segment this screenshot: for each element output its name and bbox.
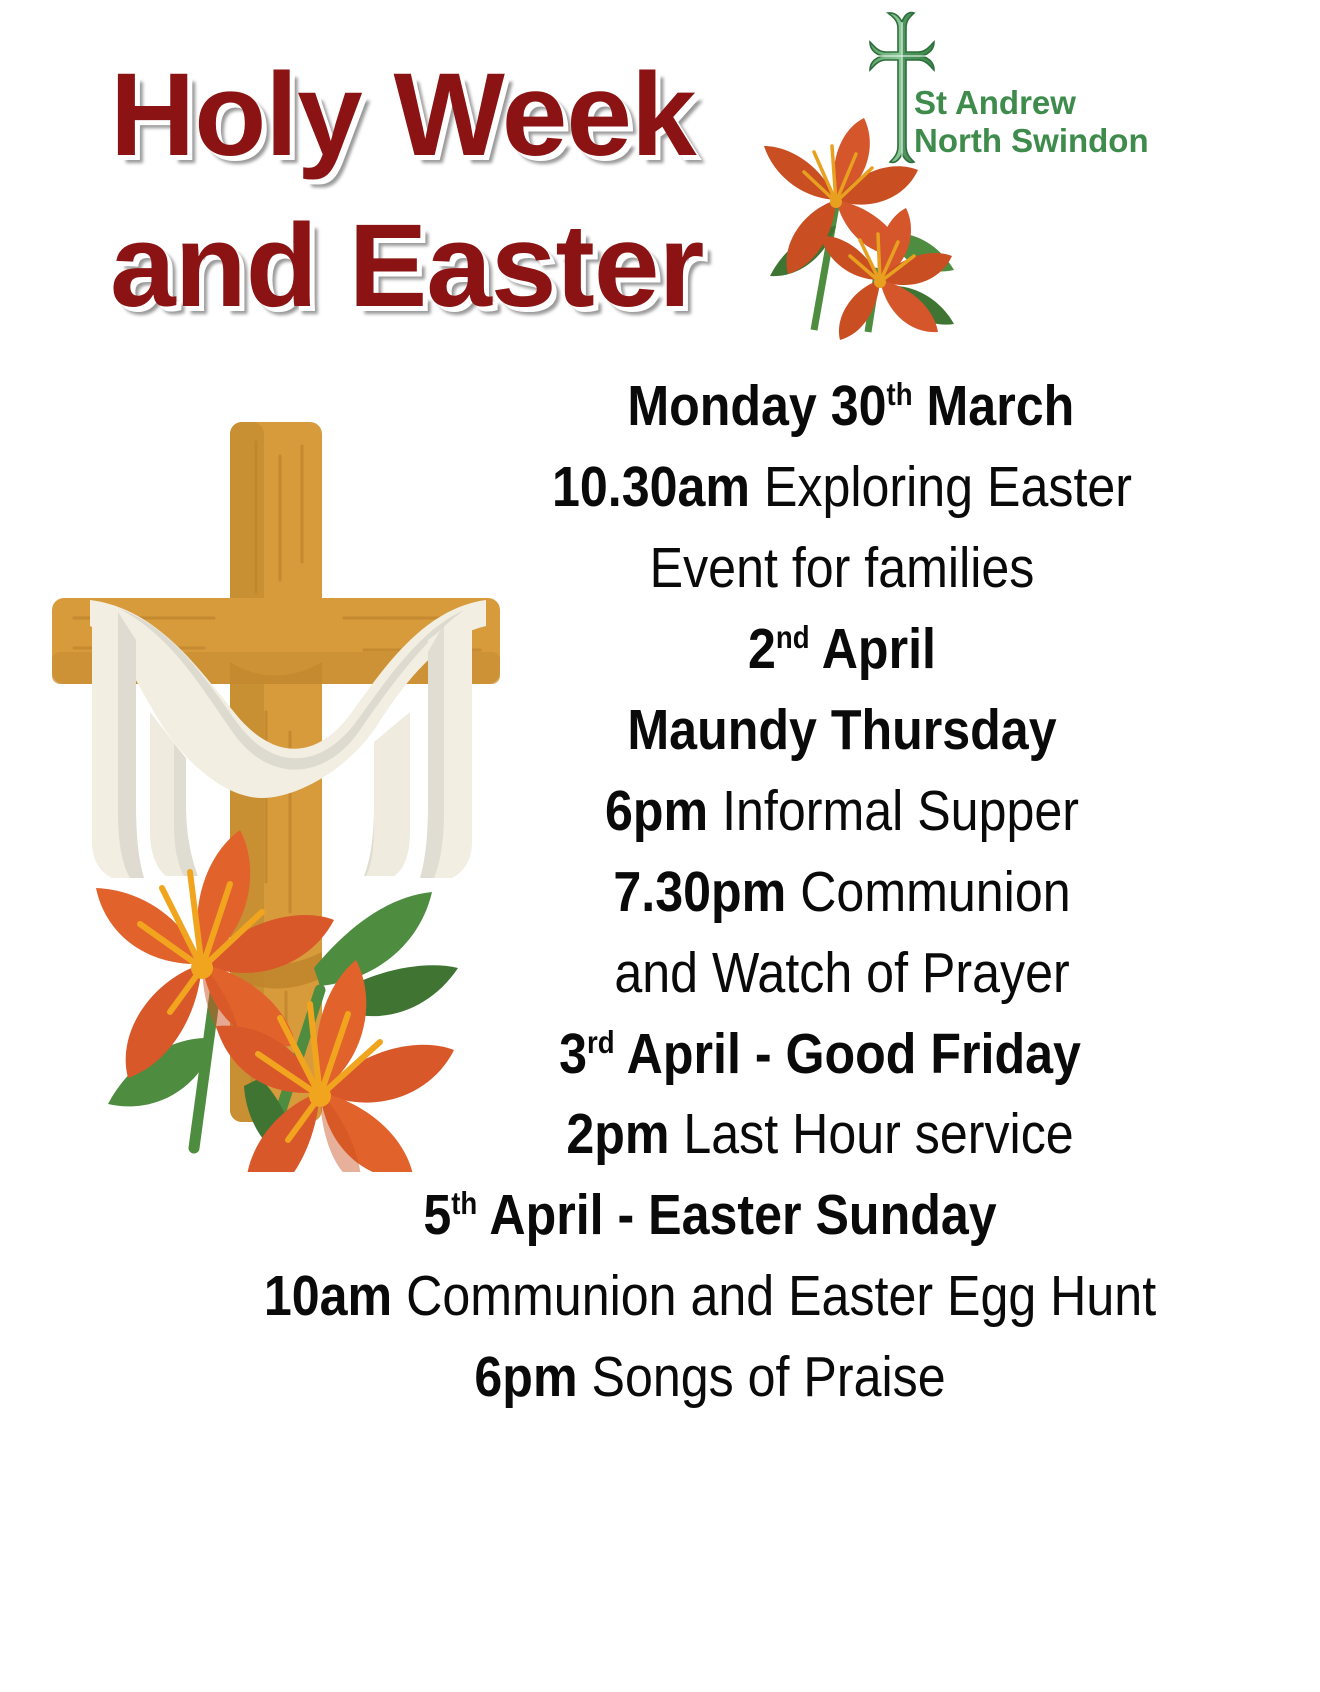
last-hour-service: 2pm Last Hour service xyxy=(191,1094,1229,1175)
schedule-emphasis: 6pm xyxy=(605,779,708,843)
informal-supper: 6pm Informal Supper xyxy=(191,771,1229,852)
schedule-emphasis: 3rd April - Good Friday xyxy=(559,1022,1081,1086)
schedule-detail: Event for families xyxy=(650,536,1035,600)
poster-header: Holy Week and Easter xyxy=(0,0,1320,360)
songs-of-praise: 6pm Songs of Praise xyxy=(191,1337,1229,1418)
church-logo: St Andrew North Swindon xyxy=(842,8,1142,178)
schedule-detail: and Watch of Prayer xyxy=(614,941,1069,1005)
schedule-emphasis: 5th April - Easter Sunday xyxy=(423,1183,996,1247)
schedule-detail: Communion and Easter Egg Hunt xyxy=(392,1264,1156,1328)
logo-name-line-2: North Swindon xyxy=(914,122,1149,160)
poster-canvas: Holy Week and Easter xyxy=(0,0,1320,1692)
schedule-emphasis: 2pm xyxy=(566,1102,669,1166)
schedule-emphasis: 2nd April xyxy=(748,617,936,681)
ordinal-suffix: th xyxy=(887,377,913,412)
logo-text: St Andrew North Swindon xyxy=(914,84,1149,159)
schedule-emphasis: Maundy Thursday xyxy=(627,698,1056,762)
communion-watch-prayer-time: 7.30pm Communion xyxy=(191,852,1229,933)
monday-30-march-heading: Monday 30th March xyxy=(191,366,1229,447)
schedule-emphasis: 6pm xyxy=(474,1345,577,1409)
maundy-thursday-heading: Maundy Thursday xyxy=(191,690,1229,771)
communion-easter-egg-hunt: 10am Communion and Easter Egg Hunt xyxy=(191,1256,1229,1337)
schedule-detail: Songs of Praise xyxy=(578,1345,946,1409)
schedule-emphasis: Monday 30th March xyxy=(627,374,1074,438)
schedule-emphasis: 10.30am xyxy=(552,455,750,519)
schedule-list: Monday 30th March10.30am Exploring Easte… xyxy=(120,366,1300,1418)
schedule-detail: Communion xyxy=(786,860,1070,924)
schedule-detail: Exploring Easter xyxy=(750,455,1132,519)
schedule-detail: Informal Supper xyxy=(708,779,1079,843)
ordinal-suffix: nd xyxy=(776,620,810,655)
5th-april-easter-sunday-heading: 5th April - Easter Sunday xyxy=(191,1175,1229,1256)
schedule-emphasis: 7.30pm xyxy=(613,860,786,924)
3rd-april-good-friday-heading: 3rd April - Good Friday xyxy=(191,1014,1229,1095)
exploring-easter-time: 10.30am Exploring Easter xyxy=(191,447,1229,528)
logo-name-line-1: St Andrew xyxy=(914,84,1149,122)
schedule-detail: Last Hour service xyxy=(669,1102,1073,1166)
event-for-families: Event for families xyxy=(191,528,1229,609)
schedule-emphasis: 10am xyxy=(264,1264,392,1328)
2nd-april-heading: 2nd April xyxy=(191,609,1229,690)
ordinal-suffix: th xyxy=(451,1186,477,1221)
ordinal-suffix: rd xyxy=(587,1025,615,1060)
and-watch-of-prayer: and Watch of Prayer xyxy=(191,933,1229,1014)
